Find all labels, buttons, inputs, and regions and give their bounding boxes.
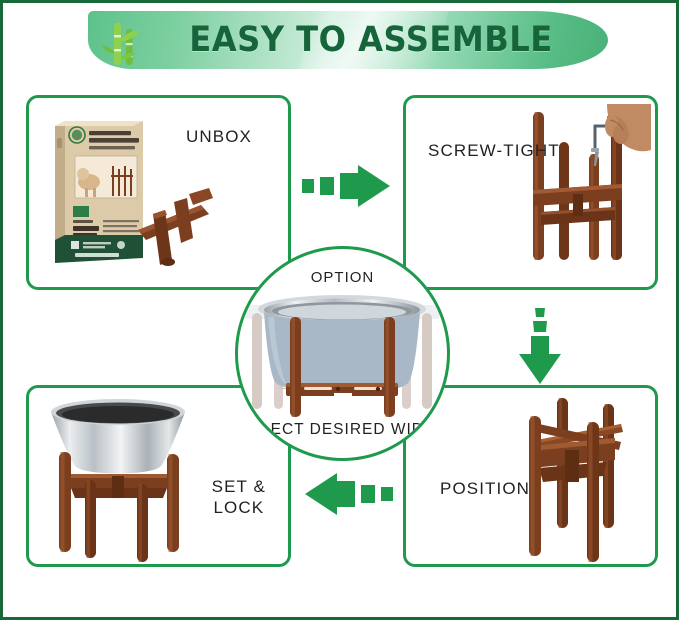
infographic-root: EASY TO ASSEMBLE UNBOX	[0, 0, 679, 620]
step-label-unbox: UNBOX	[186, 126, 252, 147]
step-label-position: POSITION	[440, 478, 530, 499]
adjustable-width-bowl-art	[238, 287, 447, 417]
center-bottom-label: SELECT DESIRED WIDTH	[238, 421, 447, 440]
arrow-left-icon	[300, 473, 395, 515]
step-panel-unbox: UNBOX	[26, 95, 291, 290]
arrow-down-icon	[515, 308, 565, 388]
step-panel-screw-tight: SCREW-TIGHT	[403, 95, 658, 290]
arrow-right-icon	[300, 165, 395, 207]
step-label-screw-tight: SCREW-TIGHT	[428, 140, 560, 161]
center-option-circle: OPTION	[235, 246, 450, 461]
step-label-set-lock: SET & LOCK	[212, 476, 266, 519]
stand-with-steel-bowl-art	[37, 396, 212, 564]
page-title: EASY TO ASSEMBLE	[109, 11, 587, 69]
hand-with-allen-key-art	[511, 104, 651, 284]
header-banner: EASY TO ASSEMBLE	[88, 11, 608, 69]
center-top-label: OPTION	[238, 269, 447, 287]
